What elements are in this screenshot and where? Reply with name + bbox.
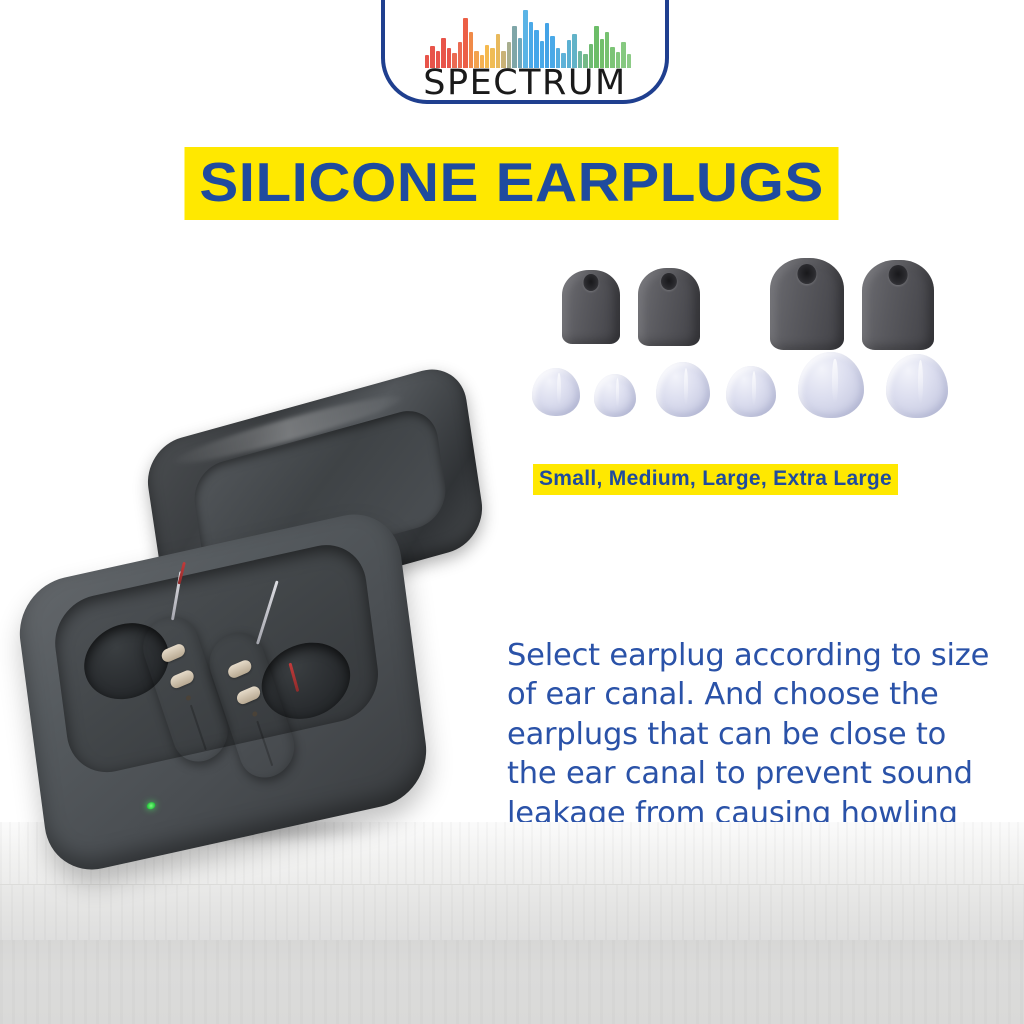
dome-tip-6 [886, 354, 948, 418]
spectrum-bar-31 [594, 26, 598, 68]
hearing-aid-right-button-bottom [235, 684, 261, 706]
spectrum-bar-18 [523, 10, 527, 68]
spectrum-bar-19 [529, 22, 533, 68]
description-text: Select earplug according to size of ear … [507, 636, 999, 833]
product-poster: SPECTRUM SILICONE EARPLUGS Small, Medium… [0, 0, 1024, 1024]
dome-tip-1 [532, 368, 580, 416]
page-title: SILICONE EARPLUGS [0, 147, 1024, 220]
cone-tip-xlarge [862, 260, 934, 350]
silicone-eartips-assortment [520, 252, 990, 427]
hearing-aid-left-mic-port [185, 695, 191, 702]
cone-tip-medium [638, 268, 700, 346]
charging-status-led [146, 801, 156, 810]
dome-tip-4 [726, 366, 776, 417]
hearing-aid-right-button-top [226, 658, 252, 680]
shelf-backdrop [0, 940, 1024, 1024]
spectrum-bar-7 [463, 18, 467, 68]
dome-tip-5 [798, 352, 864, 418]
sizes-label-text: Small, Medium, Large, Extra Large [533, 464, 898, 495]
case-tray [50, 537, 384, 781]
hearing-aid-right-seam [256, 721, 273, 767]
wooden-shelf-edge [0, 884, 1024, 941]
dome-tip-2 [594, 374, 636, 417]
page-title-text: SILICONE EARPLUGS [185, 147, 839, 220]
hearing-aid-charging-case [22, 398, 492, 868]
hearing-aid-left-button-top [160, 642, 186, 664]
cone-tip-small [562, 270, 620, 344]
hearing-aid-left-seam [190, 705, 207, 751]
logo-wordmark: SPECTRUM [385, 66, 665, 101]
hearing-aid-right-tube [256, 581, 279, 645]
cone-tip-large [770, 258, 844, 350]
dome-tip-3 [656, 362, 710, 417]
audio-spectrum-bars-icon [425, 10, 631, 68]
spectrum-bar-22 [545, 23, 549, 68]
hearing-aid-right-mic-port [252, 711, 258, 718]
hearing-aid-left-button-bottom [169, 668, 195, 690]
spectrum-logo: SPECTRUM [381, 0, 669, 104]
spectrum-bar-16 [512, 26, 516, 68]
sizes-label: Small, Medium, Large, Extra Large [533, 464, 898, 495]
